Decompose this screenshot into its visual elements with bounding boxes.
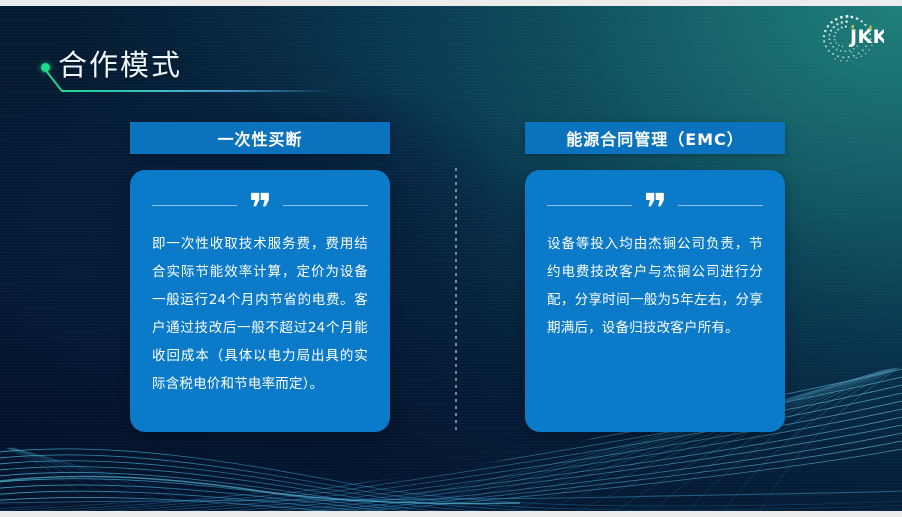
page-title-group: 合作模式 <box>36 48 376 94</box>
slide-canvas: 合作模式 <box>0 6 902 511</box>
quote-line-right <box>283 205 368 206</box>
card-body-one-time-purchase: ❞ 即一次性收取技术服务费，费用结合实际节能效率计算，定价为设备一般运行24个月… <box>130 170 390 432</box>
quote-decoration-row: ❞ <box>547 192 763 218</box>
slide-top-margin <box>0 0 902 6</box>
quote-mark-icon: ❞ <box>644 197 666 221</box>
title-underline-rule <box>62 90 334 92</box>
card-header-emc: 能源合同管理（EMC） <box>525 122 785 154</box>
quote-line-left <box>547 205 632 206</box>
quote-line-left <box>152 205 237 206</box>
svg-text:JKKJ: JKKJ <box>848 26 884 48</box>
card-text-one-time-purchase: 即一次性收取技术服务费，费用结合实际节能效率计算，定价为设备一般运行24个月内节… <box>152 230 368 398</box>
jkkj-logo: JKKJ <box>814 12 884 64</box>
slide-bottom-margin <box>0 511 902 517</box>
card-one-time-purchase: 一次性买断 ❞ 即一次性收取技术服务费，费用结合实际节能效率计算，定价为设备一般… <box>130 122 390 432</box>
column-divider <box>455 168 457 432</box>
card-header-one-time-purchase: 一次性买断 <box>130 122 390 154</box>
quote-mark-icon: ❞ <box>249 197 271 221</box>
card-body-emc: ❞ 设备等投入均由杰锏公司负责，节约电费技改客户与杰锏公司进行分配，分享时间一般… <box>525 170 785 432</box>
card-emc: 能源合同管理（EMC） ❞ 设备等投入均由杰锏公司负责，节约电费技改客户与杰锏公… <box>525 122 785 432</box>
quote-line-right <box>678 205 763 206</box>
quote-decoration-row: ❞ <box>152 192 368 218</box>
page-title: 合作模式 <box>58 48 182 82</box>
card-text-emc: 设备等投入均由杰锏公司负责，节约电费技改客户与杰锏公司进行分配，分享时间一般为5… <box>547 230 763 342</box>
